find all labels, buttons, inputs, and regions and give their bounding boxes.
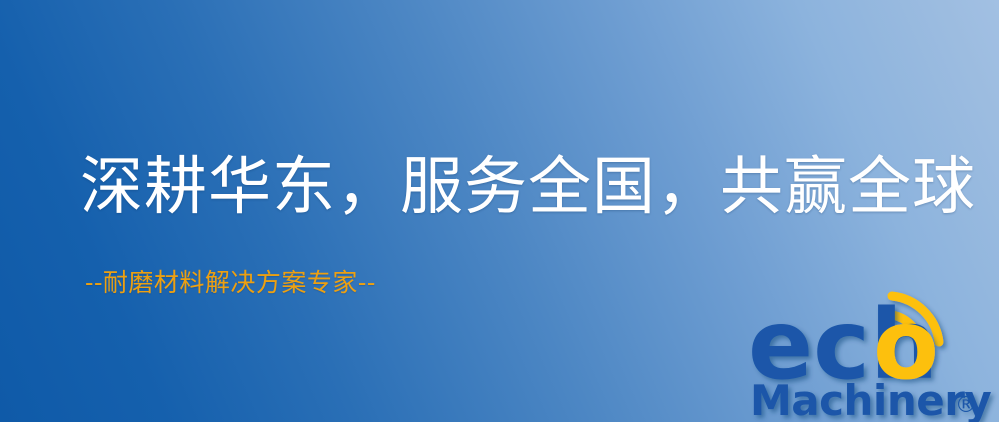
page-subtitle: --耐磨材料解决方案专家-- <box>85 269 376 297</box>
echo-machinery-logo[interactable]: ech o Machinery ® <box>742 288 999 422</box>
registered-trademark-icon: ® <box>955 393 977 418</box>
hero-banner: 深耕华东，服务全国，共赢全球 --耐磨材料解决方案专家-- ech o <box>0 0 999 422</box>
page-title: 深耕华东，服务全国，共赢全球 <box>80 154 976 220</box>
